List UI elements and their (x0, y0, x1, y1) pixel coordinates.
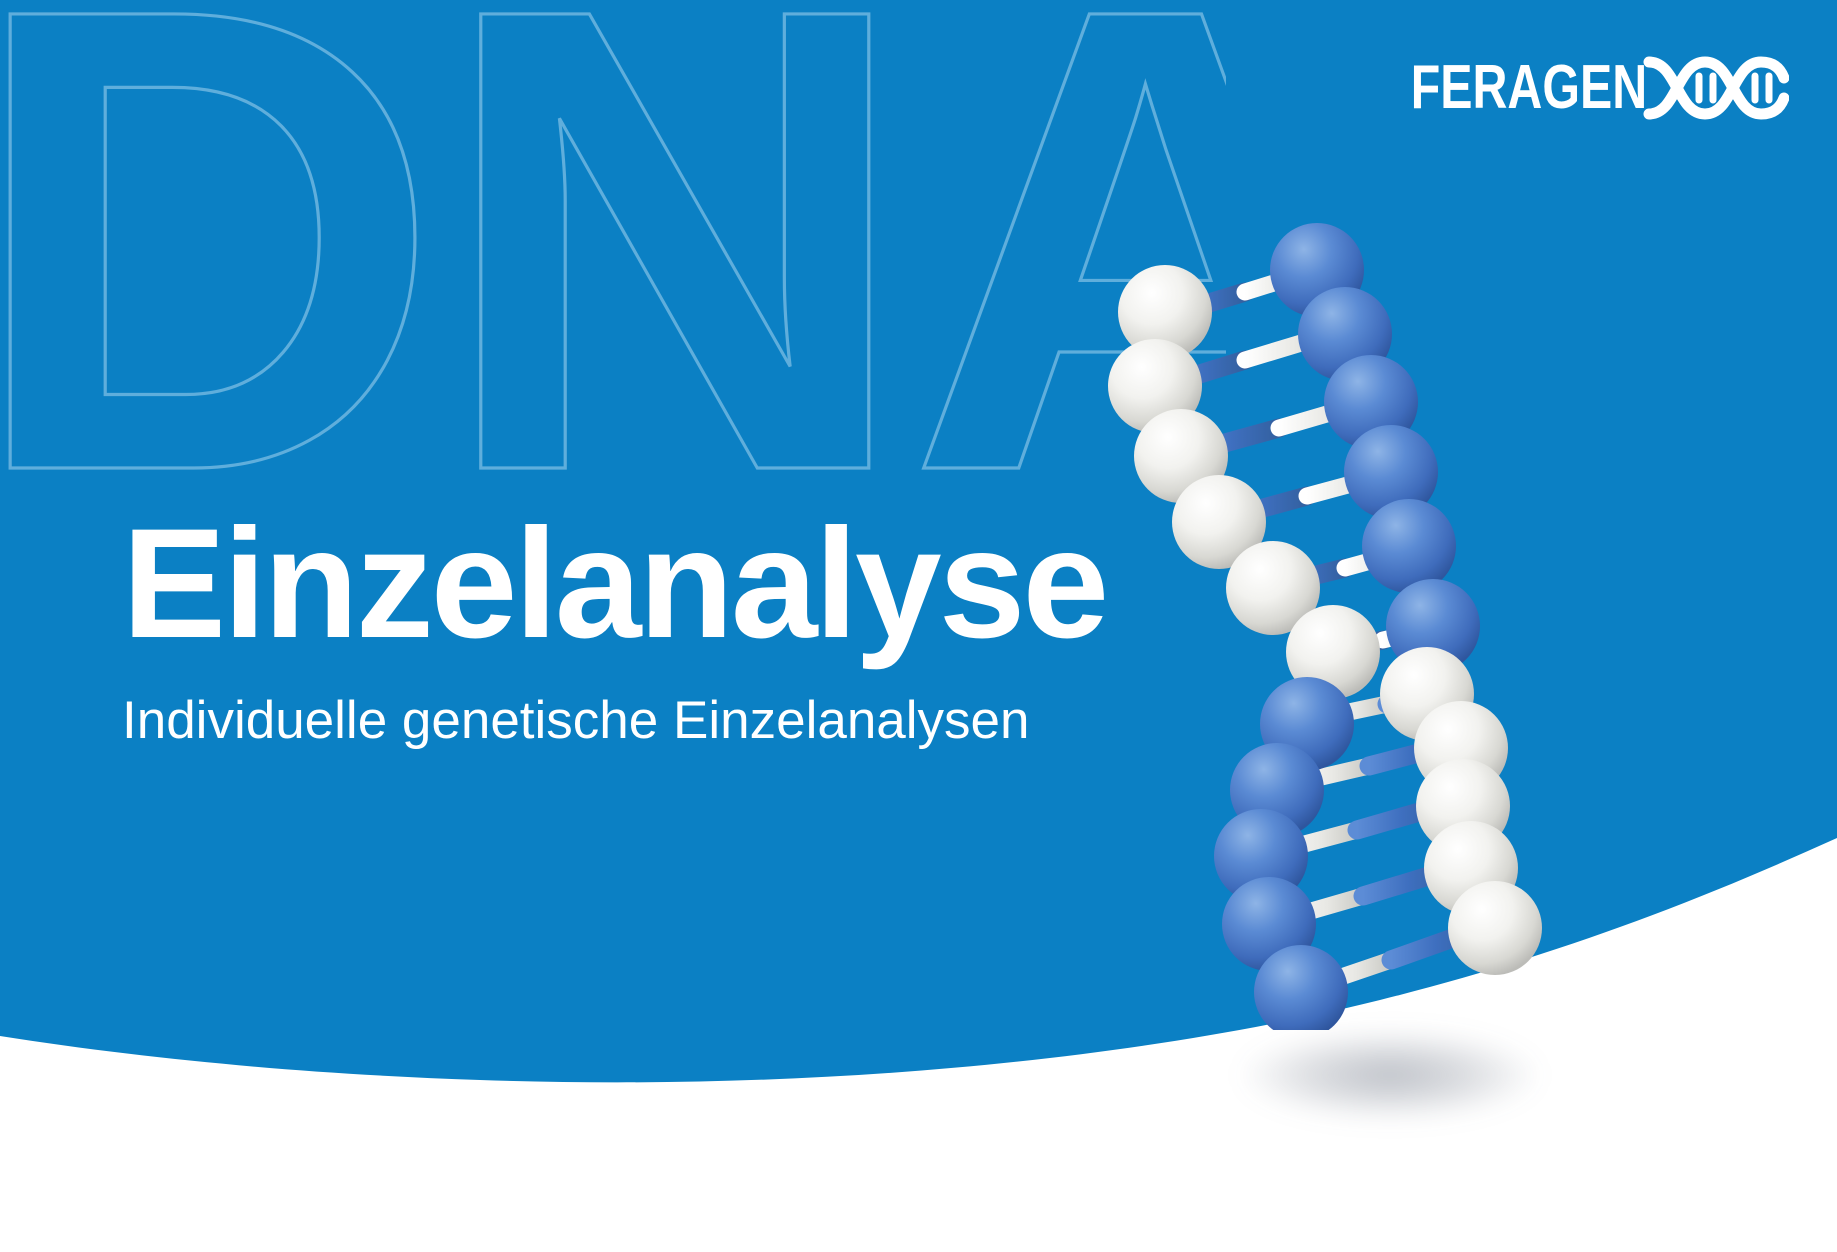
page-title: Einzelanalyse (122, 500, 1162, 668)
feragen-logo[interactable]: FERAGEN (1344, 54, 1789, 122)
page-subtitle: Individuelle genetische Einzelanalysen (122, 690, 1162, 752)
marketing-banner: DNA FERAGEN Einzelanalyse Individuelle g… (0, 0, 1837, 1252)
dna-helix-icon (1643, 54, 1789, 122)
headline-block: Einzelanalyse Individuelle genetische Ei… (122, 500, 1162, 752)
logo-wordmark: FERAGEN (1411, 57, 1647, 119)
